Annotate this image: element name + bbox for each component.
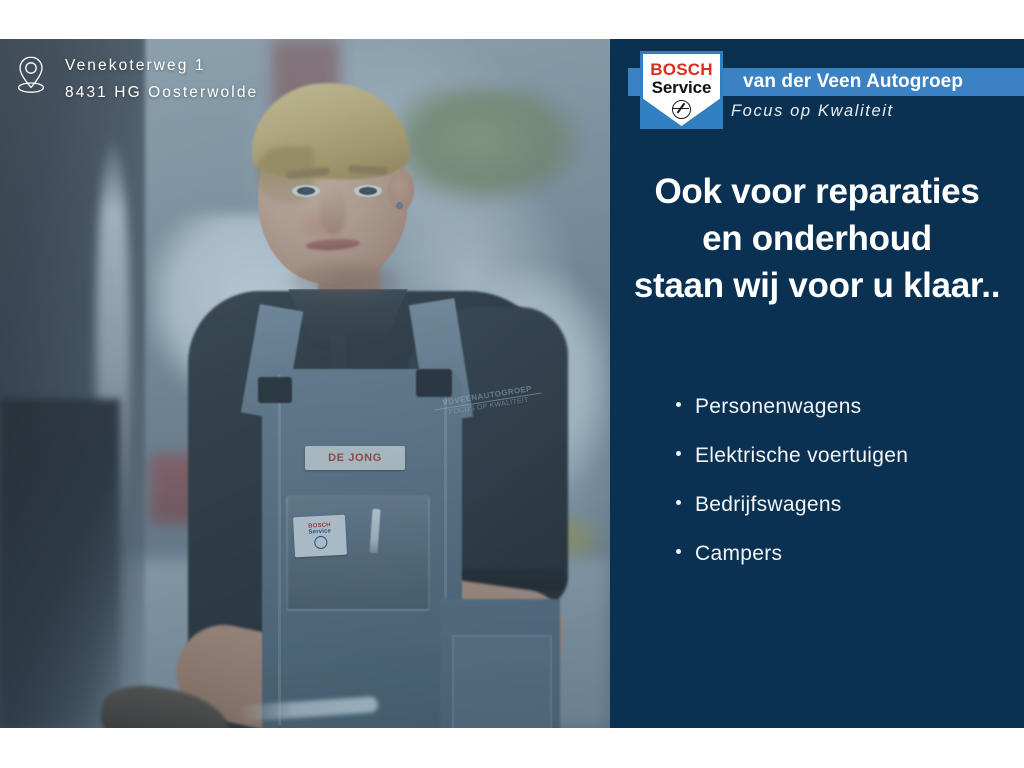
address-street: Venekoterweg 1 <box>65 52 258 79</box>
info-panel: BOSCH Service van der Veen Autogroep Foc… <box>610 39 1024 728</box>
bullet-dot-icon <box>676 451 681 456</box>
address-text: Venekoterweg 1 8431 HG Oosterwolde <box>65 52 258 106</box>
address-city: 8431 HG Oosterwolde <box>65 79 258 106</box>
list-item: Bedrijfswagens <box>676 480 1016 529</box>
company-name: van der Veen Autogroep <box>743 68 963 96</box>
company-tagline: Focus op Kwaliteit <box>731 102 894 121</box>
service-list: Personenwagens Elektrische voertuigen Be… <box>676 382 1016 578</box>
map-pin-icon <box>14 54 48 96</box>
bullet-dot-icon <box>676 402 681 407</box>
address-block: Venekoterweg 1 8431 HG Oosterwolde <box>14 52 258 106</box>
bosch-shield: BOSCH Service <box>643 54 720 126</box>
list-item: Personenwagens <box>676 382 1016 431</box>
list-item-label: Elektrische voertuigen <box>695 431 908 480</box>
advertisement-banner: DE JONG BOSCH Service VDVEENAUTOGROEP FO… <box>0 39 1024 728</box>
bosch-service-text: Service <box>652 78 712 97</box>
bullet-dot-icon <box>676 500 681 505</box>
bosch-service-logo: BOSCH Service <box>640 51 723 129</box>
list-item: Campers <box>676 529 1016 578</box>
headline-line-2: en onderhoud <box>610 215 1024 262</box>
list-item-label: Bedrijfswagens <box>695 480 842 529</box>
headline-line-1: Ook voor reparaties <box>610 168 1024 215</box>
list-item: Elektrische voertuigen <box>676 431 1016 480</box>
bosch-armature-icon <box>672 100 691 119</box>
list-item-label: Campers <box>695 529 782 578</box>
headline-line-3: staan wij voor u klaar.. <box>610 262 1024 309</box>
bullet-dot-icon <box>676 549 681 554</box>
list-item-label: Personenwagens <box>695 382 861 431</box>
photo-overlay-wash <box>0 39 610 728</box>
headline: Ook voor reparaties en onderhoud staan w… <box>610 168 1024 309</box>
bosch-brand-text: BOSCH <box>650 61 712 78</box>
technician-photo: DE JONG BOSCH Service VDVEENAUTOGROEP FO… <box>0 39 610 728</box>
